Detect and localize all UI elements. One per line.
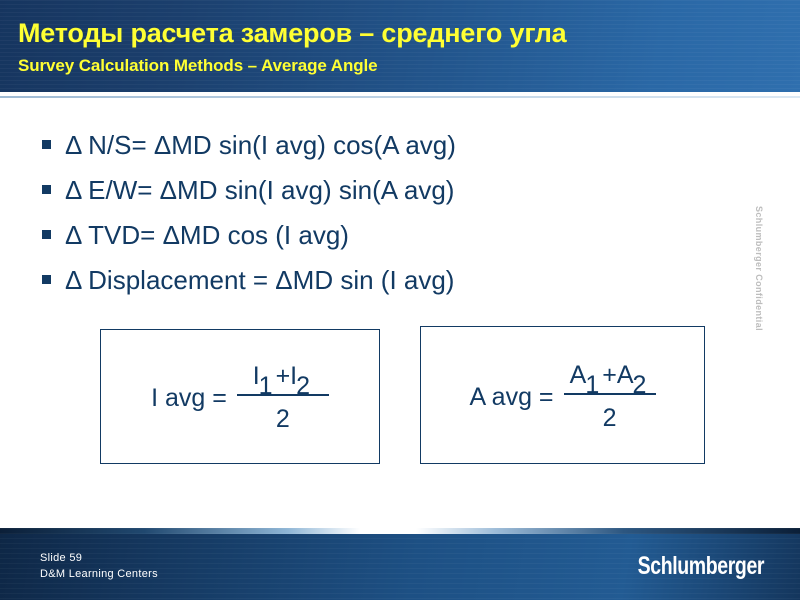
square-bullet-icon	[42, 275, 51, 284]
slide-title: Методы расчета замеров – среднего угла	[18, 18, 566, 49]
presentation-slide: Методы расчета замеров – среднего угла S…	[0, 0, 800, 600]
fraction-numerator: I1+I2	[247, 361, 319, 394]
slide-subtitle: Survey Calculation Methods – Average Ang…	[18, 56, 378, 76]
slide-number: Slide 59	[40, 550, 158, 566]
slide-footer: Slide 59 D&M Learning Centers Schlumberg…	[0, 528, 800, 600]
bullet-text: Δ N/S= ΔMD sin(I avg) cos(A avg)	[65, 128, 456, 162]
bullet-list: Δ N/S= ΔMD sin(I avg) cos(A avg) Δ E/W= …	[42, 128, 742, 308]
bullet-text: Δ E/W= ΔMD sin(I avg) sin(A avg)	[65, 173, 454, 207]
square-bullet-icon	[42, 140, 51, 149]
numerator-subscript-2: 2	[296, 372, 312, 400]
formula-content: A avg = A1+A2 2	[421, 327, 704, 463]
numerator-operator: +	[602, 361, 617, 389]
slide-header: Методы расчета замеров – среднего угла S…	[0, 0, 800, 92]
square-bullet-icon	[42, 185, 51, 194]
square-bullet-icon	[42, 230, 51, 239]
numerator-subscript-2: 2	[633, 371, 649, 399]
list-item: Δ Displacement = ΔMD sin (I avg)	[42, 263, 742, 301]
fraction: A1+A2 2	[564, 360, 656, 435]
fraction-denominator: 2	[603, 395, 617, 435]
list-item: Δ E/W= ΔMD sin(I avg) sin(A avg)	[42, 173, 742, 211]
schlumberger-logo: Schlumberger	[638, 552, 764, 581]
fraction-numerator: A1+A2	[564, 360, 656, 393]
numerator-term-2: A	[617, 361, 634, 389]
bullet-text: Δ Displacement = ΔMD sin (I avg)	[65, 263, 454, 297]
bullet-text: Δ TVD= ΔMD cos (I avg)	[65, 218, 349, 252]
list-item: Δ TVD= ΔMD cos (I avg)	[42, 218, 742, 256]
header-divider-highlight	[0, 96, 800, 98]
formula-content: I avg = I1+I2 2	[101, 330, 379, 463]
numerator-operator: +	[276, 362, 291, 390]
list-item: Δ N/S= ΔMD sin(I avg) cos(A avg)	[42, 128, 742, 166]
formula-left-hand-side: A avg =	[469, 383, 553, 412]
numerator-subscript-1: 1	[585, 371, 601, 399]
formula-left-hand-side: I avg =	[151, 384, 227, 413]
numerator-term-1: A	[570, 361, 587, 389]
fraction: I1+I2 2	[237, 361, 329, 436]
organization-name: D&M Learning Centers	[40, 566, 158, 582]
footer-highlight-band	[0, 528, 800, 534]
formula-box-inclination-average: I avg = I1+I2 2	[100, 329, 380, 464]
confidential-watermark: Schlumberger Confidential	[754, 206, 764, 326]
footer-info: Slide 59 D&M Learning Centers	[40, 550, 158, 582]
formula-box-azimuth-average: A avg = A1+A2 2	[420, 326, 705, 464]
fraction-denominator: 2	[276, 396, 290, 436]
numerator-subscript-1: 1	[259, 372, 275, 400]
